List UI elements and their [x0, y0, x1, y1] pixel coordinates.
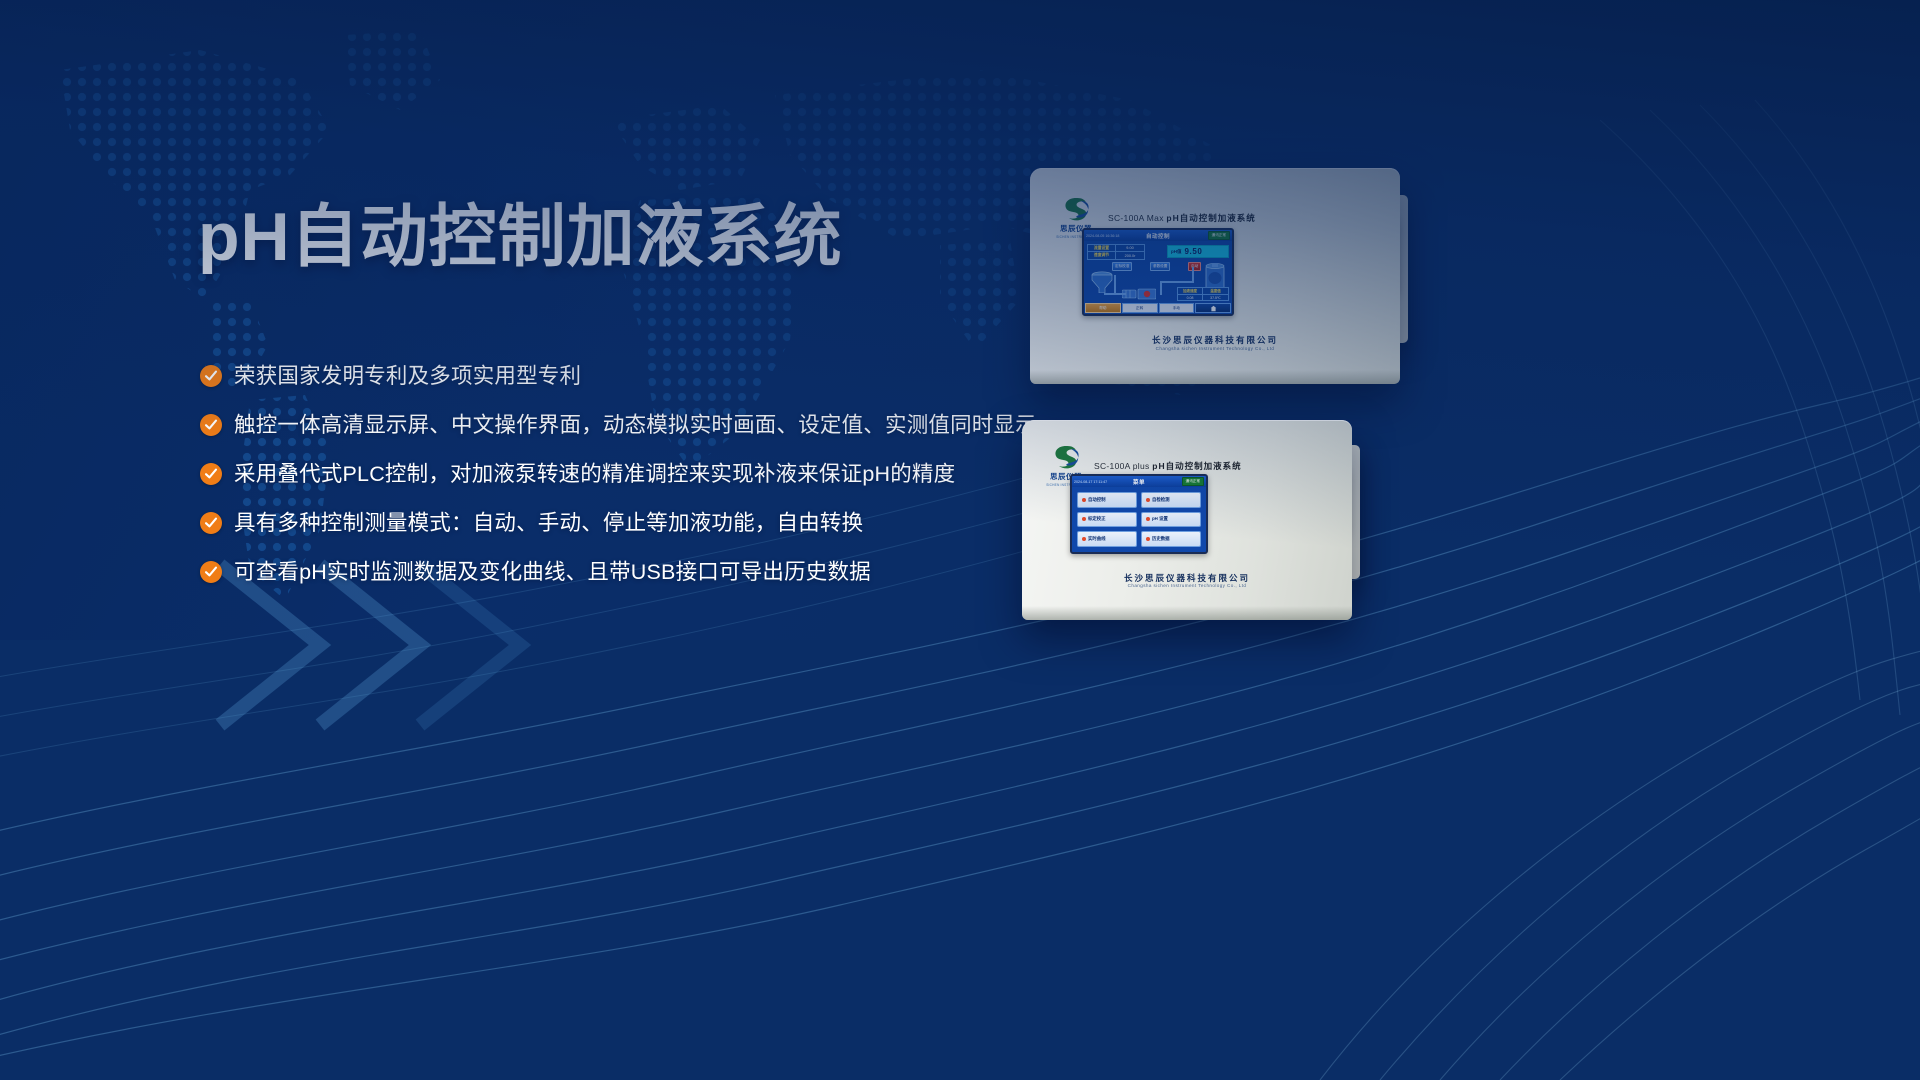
feature-text: 具有多种控制测量模式：自动、手动、停止等加液功能，自由转换: [234, 509, 863, 537]
list-item: 荣获国家发明专利及多项实用型专利: [200, 362, 1100, 391]
model-code: SC-100A plus: [1094, 461, 1150, 471]
device-body-bottom: 思辰仪器 SICHEN INSTRUMENTS SC-100A plus pH自…: [1022, 420, 1352, 620]
ph-readout: pH值 9.50: [1167, 245, 1229, 258]
brand-name-en-bottom: Changsha sichen Instrument Technology Co…: [1022, 583, 1352, 588]
readout-value: 0.08: [1178, 294, 1203, 300]
check-icon: [200, 463, 222, 485]
menu-item-history-data[interactable]: 历史数据: [1141, 531, 1201, 547]
screen-header-top: 2024-08-05 16:36:18 自动控制 通讯正常: [1084, 230, 1232, 241]
home-button[interactable]: [1195, 303, 1231, 313]
sichen-logo-icon: [1050, 444, 1082, 470]
banner-stage: pH自动控制加液系统 荣获国家发明专利及多项实用型专利 触控一体高清显示屏、中文…: [0, 0, 1920, 1080]
model-name-cn: pH自动控制加液系统: [1166, 213, 1255, 223]
menu-item-realtime-curve[interactable]: 实时曲线: [1077, 531, 1137, 547]
param-value: 200.0r: [1116, 252, 1144, 259]
param-value: 9.00: [1116, 245, 1144, 251]
device-model-label-bottom: SC-100A plus pH自动控制加液系统: [1094, 460, 1242, 472]
readout-value: 37.5℃: [1203, 294, 1228, 300]
screen-header-bottom: 2024-08-17 17:11:47 菜单 通讯正常: [1072, 476, 1206, 487]
table-row: 流量设置 9.00: [1088, 245, 1144, 252]
model-name-cn: pH自动控制加液系统: [1152, 461, 1241, 471]
menu-label: pH 设置: [1152, 516, 1168, 522]
feature-list: 荣获国家发明专利及多项实用型专利 触控一体高清显示屏、中文操作界面，动态模拟实时…: [200, 362, 1100, 607]
menu-label: 自检检测: [1152, 497, 1170, 503]
parameter-table: 流量设置 9.00 速度调节 200.0r: [1087, 244, 1145, 260]
menu-label: 标定校正: [1088, 516, 1106, 522]
home-icon: [1210, 305, 1217, 312]
readout-table: 加液速度 温度值 0.08 37.5℃: [1177, 287, 1229, 301]
feature-text: 触控一体高清显示屏、中文操作界面，动态模拟实时画面、设定值、实测值同时显示: [234, 411, 1037, 439]
screen-footer-top: 帮助 正转 手动: [1084, 302, 1232, 314]
device-body-top: 思辰仪器 SICHEN INSTRUMENTS SC-100A Max pH自动…: [1030, 168, 1400, 384]
table-row: 速度调节 200.0r: [1088, 252, 1144, 259]
manual-button[interactable]: 手动: [1159, 303, 1195, 313]
screen-title: 菜单: [1072, 478, 1206, 486]
start-button[interactable]: 启动: [1188, 262, 1201, 271]
reagent-tank-icon: [1090, 271, 1114, 293]
menu-item-calibration[interactable]: 标定校正: [1077, 512, 1137, 528]
page-title: pH自动控制加液系统: [198, 203, 843, 271]
menu-label: 自动控制: [1088, 497, 1106, 503]
forward-button[interactable]: 正转: [1122, 303, 1158, 313]
bullet-dot-icon: [1082, 517, 1086, 521]
device-model-label-top: SC-100A Max pH自动控制加液系统: [1108, 212, 1256, 224]
product-device-bottom: 思辰仪器 SICHEN INSTRUMENTS SC-100A plus pH自…: [1022, 420, 1352, 620]
calibration-button[interactable]: 定标校准: [1112, 262, 1132, 271]
touch-screen-top[interactable]: 2024-08-05 16:36:18 自动控制 通讯正常 流量设置 9.00 …: [1082, 228, 1234, 316]
touch-screen-bottom[interactable]: 2024-08-17 17:11:47 菜单 通讯正常 自动控制 自检检测: [1070, 474, 1208, 554]
bullet-dot-icon: [1082, 498, 1086, 502]
check-icon: [200, 561, 222, 583]
help-button[interactable]: 帮助: [1085, 303, 1121, 313]
menu-item-auto-control[interactable]: 自动控制: [1077, 492, 1137, 508]
bullet-dot-icon: [1146, 517, 1150, 521]
bullet-dot-icon: [1082, 537, 1086, 541]
menu-grid: 自动控制 自检检测 标定校正 pH 设置: [1077, 492, 1201, 547]
check-icon: [200, 512, 222, 534]
list-item: 触控一体高清显示屏、中文操作界面，动态模拟实时画面、设定值、实测值同时显示: [200, 411, 1100, 440]
ph-label: pH值: [1171, 249, 1182, 255]
brand-name-cn-top: 长沙思辰仪器科技有限公司: [1030, 334, 1400, 346]
feature-text: 荣获国家发明专利及多项实用型专利: [234, 362, 581, 390]
menu-label: 历史数据: [1152, 536, 1170, 542]
settings-button[interactable]: 参数设置: [1150, 262, 1170, 271]
check-icon: [200, 365, 222, 387]
feature-text: 可查看pH实时监测数据及变化曲线、且带USB接口可导出历史数据: [234, 558, 871, 586]
sichen-logo-icon: [1060, 196, 1092, 222]
product-device-top: 思辰仪器 SICHEN INSTRUMENTS SC-100A Max pH自动…: [1030, 168, 1400, 384]
list-item: 可查看pH实时监测数据及变化曲线、且带USB接口可导出历史数据: [200, 558, 1100, 587]
param-key: 流量设置: [1088, 245, 1116, 251]
screen-title: 自动控制: [1084, 232, 1232, 240]
menu-item-self-test[interactable]: 自检检测: [1141, 492, 1201, 508]
param-key: 速度调节: [1088, 252, 1116, 259]
bullet-dot-icon: [1146, 498, 1150, 502]
check-icon: [200, 414, 222, 436]
screen-body-bottom: 自动控制 自检检测 标定校正 pH 设置: [1072, 487, 1206, 552]
menu-item-ph-settings[interactable]: pH 设置: [1141, 512, 1201, 528]
ph-value: 9.50: [1185, 247, 1203, 256]
brand-name-en-top: Changsha sichen Instrument Technology Co…: [1030, 346, 1400, 351]
list-item: 具有多种控制测量模式：自动、手动、停止等加液功能，自由转换: [200, 509, 1100, 538]
list-item: 采用叠代式PLC控制，对加液泵转速的精准调控来实现补液来保证pH的精度: [200, 460, 1100, 489]
menu-label: 实时曲线: [1088, 536, 1106, 542]
bullet-dot-icon: [1146, 537, 1150, 541]
content-column: pH自动控制加液系统 荣获国家发明专利及多项实用型专利 触控一体高清显示屏、中文…: [0, 0, 1100, 1080]
model-code: SC-100A Max: [1108, 213, 1164, 223]
screen-body-top: 流量设置 9.00 速度调节 200.0r pH值 9.50 定标校准 参数设置: [1084, 241, 1232, 314]
feature-text: 采用叠代式PLC控制，对加液泵转速的精准调控来实现补液来保证pH的精度: [234, 460, 955, 488]
pump-icon: [1122, 288, 1156, 300]
